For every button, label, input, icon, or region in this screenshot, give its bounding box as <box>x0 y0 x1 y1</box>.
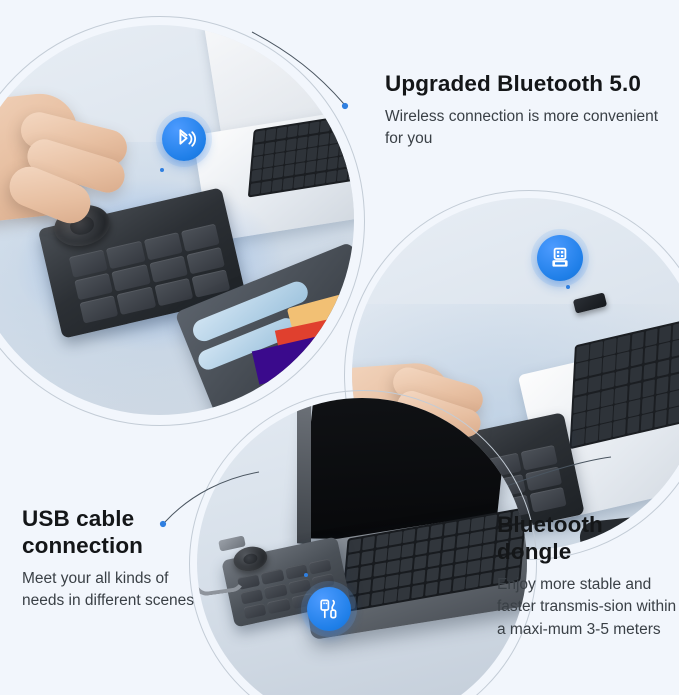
feature-heading-dongle: Bluetooth dongle <box>497 511 677 565</box>
badge-accent-dot <box>304 573 308 577</box>
badge-usb-cable <box>307 587 351 631</box>
usb-cable-plugs-icon <box>315 595 343 623</box>
laptop-lid-edge <box>297 398 311 545</box>
bluetooth-signal-icon <box>170 125 198 153</box>
feature-body-bluetooth: Wireless connection is more convenient f… <box>385 106 665 151</box>
usb-dongle-receiver-icon <box>546 244 574 272</box>
feature-body-dongle: Enjoy more stable and faster transmis-si… <box>497 574 677 641</box>
feature-text-usb-cable: USB cable connection Meet your all kinds… <box>22 505 202 613</box>
photo-usb-cable <box>197 398 527 695</box>
badge-bluetooth-signal <box>162 117 206 161</box>
feature-heading-bluetooth: Upgraded Bluetooth 5.0 <box>385 70 665 97</box>
badge-accent-dot <box>566 285 570 289</box>
product-feature-infographic: Upgraded Bluetooth 5.0 Wireless connecti… <box>0 0 679 695</box>
badge-usb-dongle <box>537 235 583 281</box>
badge-accent-dot <box>160 168 164 172</box>
photo-bluetooth-pairing <box>0 25 354 415</box>
feature-text-dongle: Bluetooth dongle Enjoy more stable and f… <box>497 511 677 641</box>
feature-body-usb-cable: Meet your all kinds of needs in differen… <box>22 568 202 613</box>
feature-text-bluetooth: Upgraded Bluetooth 5.0 Wireless connecti… <box>385 70 665 151</box>
feature-heading-usb-cable: USB cable connection <box>22 505 202 559</box>
